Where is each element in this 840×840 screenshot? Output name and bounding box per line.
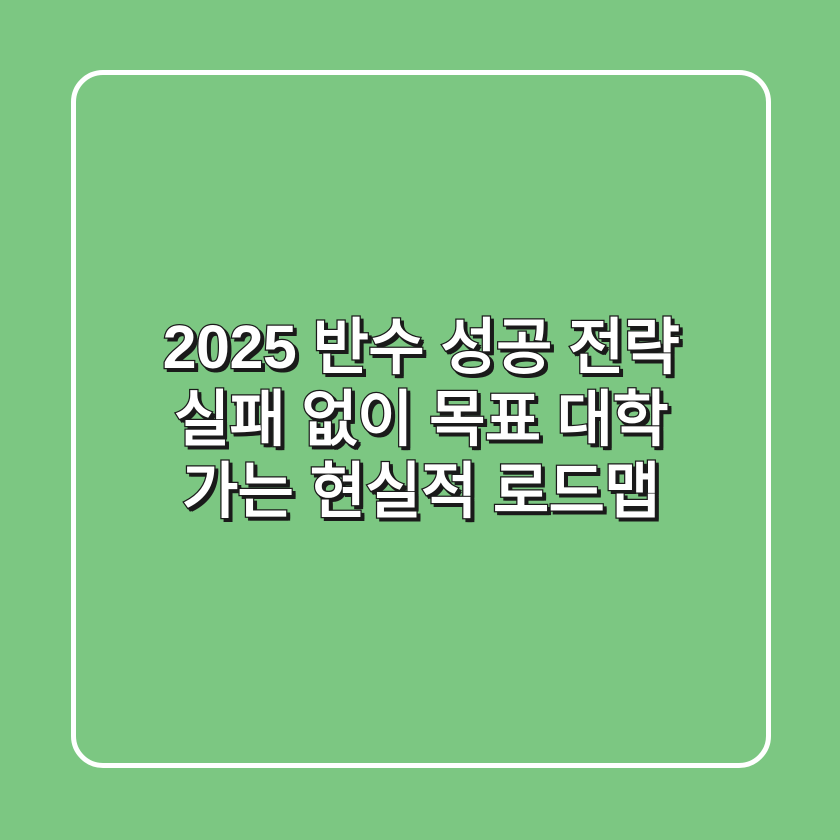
headline-text-block: 2025 반수 성공 전략 실패 없이 목표 대학 가는 현실적 로드맵 [76, 311, 766, 527]
headline-line-3: 가는 현실적 로드맵 [94, 455, 748, 527]
headline-line-1: 2025 반수 성공 전략 [94, 311, 748, 383]
headline-line-2: 실패 없이 목표 대학 [94, 383, 748, 455]
card-frame-border: 2025 반수 성공 전략 실패 없이 목표 대학 가는 현실적 로드맵 [71, 70, 771, 768]
thumbnail-canvas: 2025 반수 성공 전략 실패 없이 목표 대학 가는 현실적 로드맵 [0, 0, 840, 840]
